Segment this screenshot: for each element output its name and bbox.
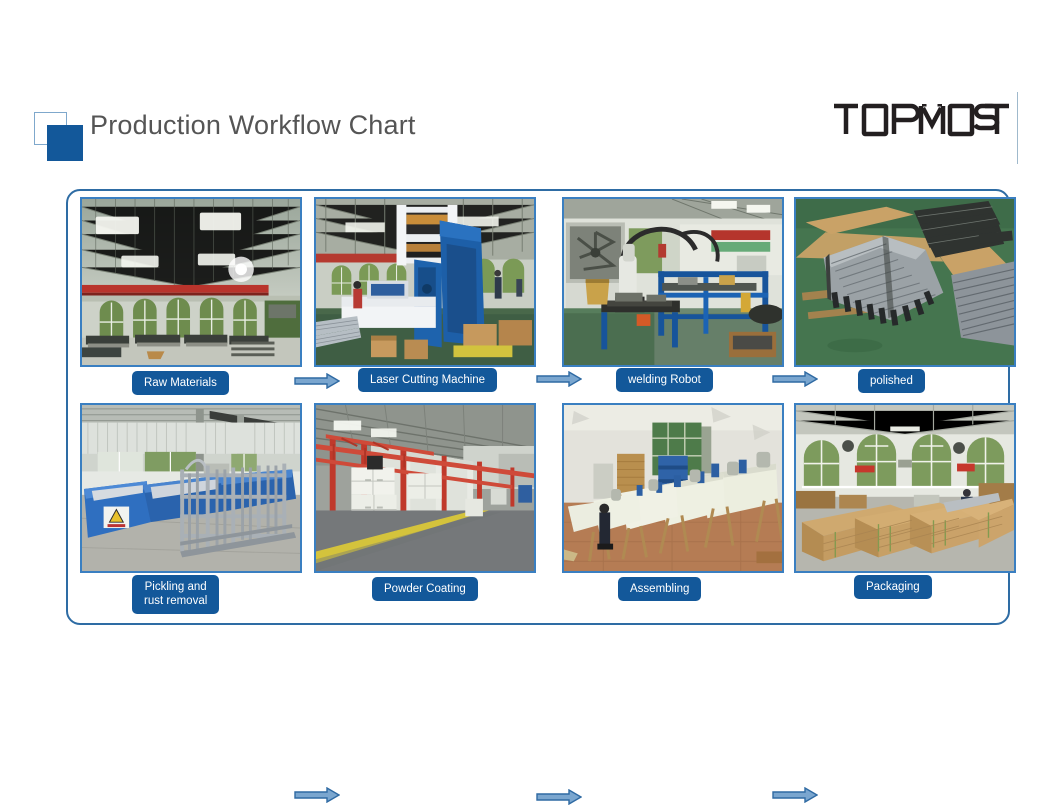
arrow-right-icon: [772, 371, 818, 387]
step-label: Pickling and rust removal: [132, 575, 219, 614]
photo-welding-robot-cell: [562, 197, 784, 367]
arrow-right-icon: [294, 787, 340, 803]
decor-solid-square: [47, 125, 83, 161]
step-label: polished: [858, 369, 925, 393]
arrow-right-icon: [294, 373, 340, 389]
title-decoration-squares: [34, 112, 86, 164]
workflow-step-polished[interactable]: polished: [794, 197, 1016, 367]
step-label: Powder Coating: [372, 577, 478, 601]
step-label: Packaging: [854, 575, 932, 599]
arrow-right-icon: [536, 789, 582, 805]
photo-assembly-workshop: [562, 403, 784, 573]
workflow-step-pickling-and-rust-removal[interactable]: Pickling and rust removal: [80, 403, 302, 573]
photo-factory-workshop-interior: [80, 197, 302, 367]
workflow-step-welding-robot[interactable]: welding Robot: [562, 197, 784, 367]
workflow-step-assembling[interactable]: Assembling: [562, 403, 784, 573]
photo-laser-cutting-machine: [314, 197, 536, 367]
workflow-frame: Raw Materials: [66, 189, 1010, 625]
workflow-step-laser-cutting-machine[interactable]: Laser Cutting Machine: [314, 197, 536, 367]
workflow-row-2: Pickling and rust removal: [68, 397, 1012, 615]
photo-packaged-cartons-warehouse: [794, 403, 1016, 573]
photo-powder-coating-line: [314, 403, 536, 573]
page-header: Production Workflow Chart: [0, 0, 1060, 180]
arrow-right-icon: [536, 371, 582, 387]
step-label: Laser Cutting Machine: [358, 368, 497, 392]
workflow-step-raw-materials[interactable]: Raw Materials: [80, 197, 302, 367]
photo-pickling-tanks: [80, 403, 302, 573]
workflow-step-packaging[interactable]: Packaging: [794, 403, 1016, 573]
page-title: Production Workflow Chart: [90, 110, 416, 141]
photo-polished-metal-parts-stack: [794, 197, 1016, 367]
workflow-row-1: Raw Materials: [68, 191, 1012, 409]
header-divider-rule: [1017, 92, 1018, 164]
workflow-step-powder-coating[interactable]: Powder Coating: [314, 403, 536, 573]
topmost-logo: [832, 100, 1012, 142]
step-label: Raw Materials: [132, 371, 229, 395]
step-label: welding Robot: [616, 368, 713, 392]
arrow-right-icon: [772, 787, 818, 803]
step-label: Assembling: [618, 577, 701, 601]
